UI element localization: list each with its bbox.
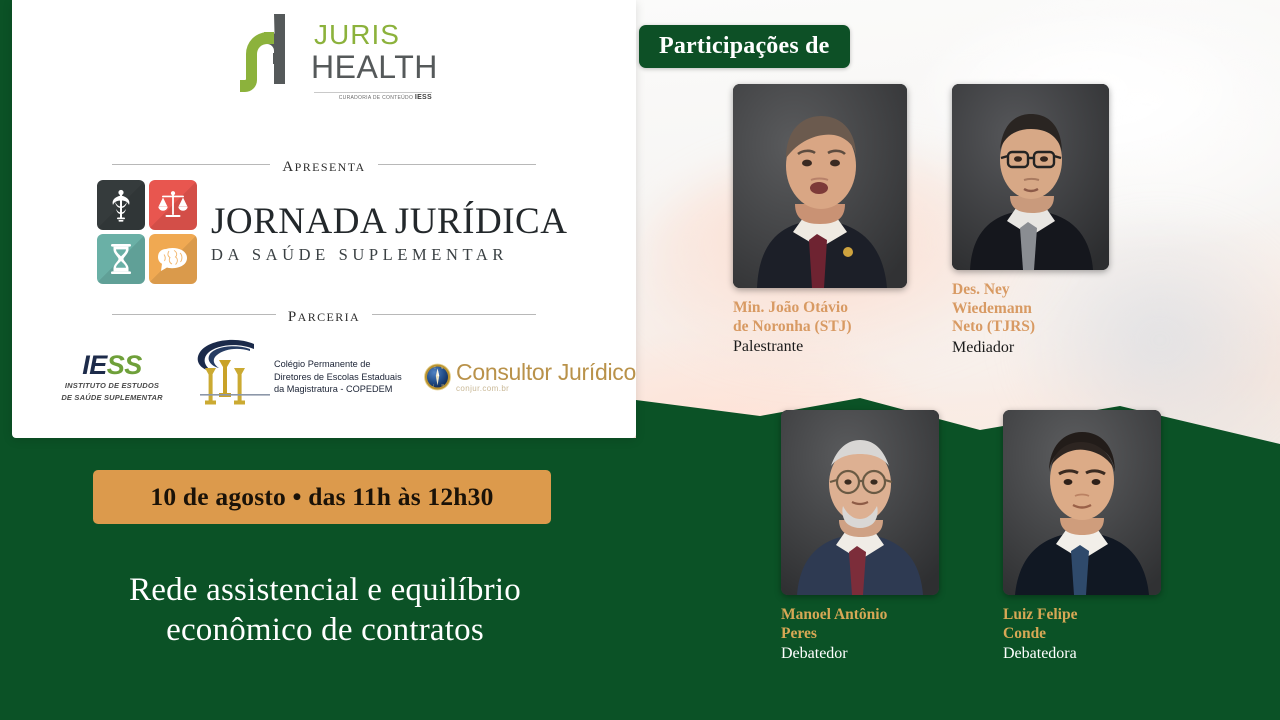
speaker-card-1: Min. João Otávio de Noronha (STJ) Palest… (733, 84, 911, 357)
event-title: JORNADA JURÍDICA (211, 202, 567, 242)
brand-line-2: HEALTH (311, 50, 438, 84)
iess-word-b: SS (107, 350, 142, 380)
speaker-role-2: Mediador (952, 338, 1122, 358)
speaker-card-2: Des. Ney Wiedemann Neto (TJRS) Mediador (952, 84, 1122, 358)
speaker-name-4: Luiz Felipe Conde (1003, 606, 1183, 643)
copedem-line-2: Diretores de Escolas Estaduais (274, 371, 402, 384)
hourglass-icon (97, 234, 145, 284)
brand-tagline-iess: IESS (415, 94, 432, 101)
speaker-name-2: Des. Ney Wiedemann Neto (TJRS) (952, 281, 1122, 337)
portrait-ney-wiedemann-neto (952, 84, 1109, 270)
copedem-logo: Colégio Permanente de Diretores de Escol… (192, 338, 424, 416)
lecture-title-line-1: Rede assistencial e equilíbrio (40, 570, 610, 610)
participants-heading-badge: Participações de (639, 25, 850, 68)
conjur-wordmark: Consultor Jurídico (456, 361, 636, 384)
portrait-luiz-felipe-conde (1003, 410, 1161, 595)
event-icon-grid (97, 180, 197, 284)
conjur-url: conjur.com.br (456, 385, 636, 393)
lecture-title-line-2: econômico de contratos (40, 610, 610, 650)
copedem-emblem-icon (192, 338, 270, 416)
copedem-line-3: da Magistratura - COPEDEM (274, 383, 402, 396)
iess-word-a: IE (82, 350, 107, 380)
copedem-text: Colégio Permanente de Diretores de Escol… (274, 358, 402, 396)
presents-divider: Apresenta (112, 152, 536, 177)
brand-line-1: JURIS (314, 20, 438, 50)
speaker-card-4: Luiz Felipe Conde Debatedora (1003, 410, 1183, 664)
speaker-name-1: Min. João Otávio de Noronha (STJ) (733, 299, 911, 336)
divider-line-right (372, 314, 536, 315)
conjur-text: Consultor Jurídico conjur.com.br (456, 361, 636, 393)
event-info-card: JURIS HEALTH CURADORIA DE CONTEÚDO IESS … (12, 0, 636, 438)
caduceus-icon (97, 180, 145, 230)
speaker-role-4: Debatedora (1003, 644, 1183, 664)
event-subtitle: DA SAÚDE SUPLEMENTAR (211, 245, 567, 265)
divider-line-left (112, 164, 270, 165)
iess-subtitle-line-2: DE SAÚDE SUPLEMENTAR (32, 393, 192, 403)
portrait-manoel-antonio-peres (781, 410, 939, 595)
consultor-juridico-logo: CN JR Consultor Jurídico conjur.com.br (424, 353, 636, 401)
juris-health-logo: JURIS HEALTH CURADORIA DE CONTEÚDO IESS (240, 8, 430, 113)
speaker-role-1: Palestrante (733, 337, 911, 357)
iess-wordmark: IESS (32, 351, 192, 379)
speaker-card-3: Manoel Antônio Peres Debatedor (781, 410, 961, 664)
jh-monogram-icon (240, 12, 310, 108)
participants-heading-text: Participações de (659, 33, 830, 60)
portrait-joao-otavio-de-noronha (733, 84, 907, 288)
brand-tagline: CURADORIA DE CONTEÚDO IESS (314, 92, 432, 101)
presentation-slide: JURIS HEALTH CURADORIA DE CONTEÚDO IESS … (0, 0, 1280, 720)
date-banner-text: 10 de agosto • das 11h às 12h30 (150, 482, 493, 512)
speaker-name-3: Manoel Antônio Peres (781, 606, 961, 643)
scales-of-justice-icon (149, 180, 197, 230)
partner-logos: IESS INSTITUTO DE ESTUDOS DE SAÚDE SUPLE… (32, 336, 636, 418)
speaker-role-3: Debatedor (781, 644, 961, 664)
partnership-label: Parceria (288, 302, 360, 327)
brand-tagline-prefix: CURADORIA DE CONTEÚDO (339, 95, 413, 101)
partnership-divider: Parceria (112, 302, 536, 327)
date-banner: 10 de agosto • das 11h às 12h30 (93, 470, 551, 524)
event-title-block: JORNADA JURÍDICA DA SAÚDE SUPLEMENTAR (97, 180, 567, 284)
brain-icon (149, 234, 197, 284)
presents-label: Apresenta (282, 152, 365, 177)
conjur-compass-icon: CN JR (424, 353, 451, 401)
divider-line-right (378, 164, 536, 165)
iess-logo: IESS INSTITUTO DE ESTUDOS DE SAÚDE SUPLE… (32, 351, 192, 403)
copedem-line-1: Colégio Permanente de (274, 358, 402, 371)
page-title: Rede assistencial e equilíbrio econômico… (40, 570, 610, 650)
iess-subtitle-line-1: INSTITUTO DE ESTUDOS (32, 381, 192, 391)
divider-line-left (112, 314, 276, 315)
